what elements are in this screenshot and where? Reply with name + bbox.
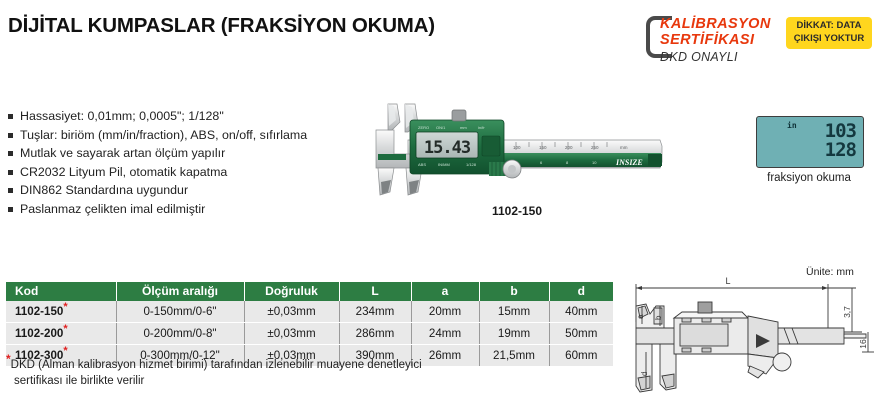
footnote-line1: DKD (Alman kalibrasyon hizmet birimi) ta… (11, 359, 422, 371)
svg-text:ZERO: ZERO (418, 125, 429, 130)
fraction-display-caption: fraksiyon okuma (744, 172, 874, 184)
cell-b: 15mm (479, 301, 549, 323)
feature-text: CR2032 Lityum Pil, otomatik kapatma (20, 164, 227, 182)
cell-kod: 1102-200* (6, 323, 116, 345)
brand-mark: INSIZE (615, 158, 643, 167)
caliper-lcd-value: 15.43 (424, 138, 471, 158)
dim-label-d: d (640, 372, 649, 376)
cell-dogruluk: ±0,03mm (244, 301, 339, 323)
lcd-unit-indicator: in (787, 121, 797, 130)
kod-value: 1102-150 (15, 305, 63, 318)
calibration-badge-line2: SERTİFİKASI (660, 32, 754, 48)
fraction-display-inset: in 103 128 (756, 116, 864, 168)
dim-label-height: 16 (858, 339, 868, 349)
footnote-line2: sertifikası ile birlikte verilir (6, 374, 606, 390)
column-header-olcum-araligi: Ölçüm aralığı (116, 282, 244, 301)
cell-d: 40mm (549, 301, 613, 323)
bullet-square-icon (8, 151, 13, 156)
bullet-square-icon (8, 114, 13, 119)
specifications-table: Kod Ölçüm aralığı Doğruluk L a b d 1102-… (6, 282, 613, 366)
lcd-denominator: 128 (825, 141, 856, 160)
svg-text:mm: mm (620, 145, 628, 150)
bullet-square-icon (8, 207, 13, 212)
cell-kod: 1102-150* (6, 301, 116, 323)
cell-l: 286mm (339, 323, 411, 345)
bullet-square-icon (8, 170, 13, 175)
bullet-square-icon (8, 188, 13, 193)
column-header-b: b (479, 282, 549, 301)
list-item: DIN862 Standardına uygundur (8, 182, 368, 200)
cell-b: 19mm (479, 323, 549, 345)
cell-a: 24mm (411, 323, 479, 345)
cell-a: 20mm (411, 301, 479, 323)
svg-text:100: 100 (513, 145, 521, 150)
table-row: 1102-150* 0-150mm/0-6" ±0,03mm 234mm 20m… (6, 301, 613, 323)
dim-label-b: b (654, 315, 663, 320)
column-header-l: L (339, 282, 411, 301)
list-item: Mutlak ve sayarak artan ölçüm yapılır (8, 145, 368, 163)
list-item: Hassasiyet: 0,01mm; 0,0005"; 1/128" (8, 108, 368, 126)
column-header-d: d (549, 282, 613, 301)
feature-text: Mutlak ve sayarak artan ölçüm yapılır (20, 145, 225, 163)
table-header-row: Kod Ölçüm aralığı Doğruluk L a b d (6, 282, 613, 301)
caliper-product-image: 50100 150200 250mm 24 68 10 INSIZE (348, 96, 664, 196)
svg-text:in/fr: in/fr (478, 125, 485, 130)
column-header-kod: Kod (6, 282, 116, 301)
cell-l: 234mm (339, 301, 411, 323)
feature-text: Hassasiyet: 0,01mm; 0,0005"; 1/128" (20, 108, 224, 126)
cell-olcum-araligi: 0-150mm/0-6" (116, 301, 244, 323)
asterisk-marker: * (63, 323, 67, 335)
page-title: DİJİTAL KUMPASLAR (FRAKSİYON OKUMA) (8, 14, 435, 38)
column-header-a: a (411, 282, 479, 301)
feature-list: Hassasiyet: 0,01mm; 0,0005"; 1/128" Tuşl… (8, 108, 368, 219)
product-photo-caption: 1102-150 (462, 204, 572, 218)
feature-text: Tuşlar: biriöm (mm/in/fraction), ABS, on… (20, 127, 307, 145)
cell-d: 50mm (549, 323, 613, 345)
asterisk-marker: * (63, 301, 67, 313)
calibration-badge-line3: DKD ONAYLI (660, 50, 738, 64)
warning-badge: DİKKAT: DATA ÇIKIŞI YOKTUR (786, 17, 872, 49)
list-item: Paslanmaz çelikten imal edilmiştir (8, 201, 368, 219)
bullet-square-icon (8, 133, 13, 138)
list-item: CR2032 Lityum Pil, otomatik kapatma (8, 164, 368, 182)
feature-text: Paslanmaz çelikten imal edilmiştir (20, 201, 205, 219)
calibration-badge-line1: KALİBRASYON (660, 16, 771, 32)
svg-text:1/128: 1/128 (466, 162, 477, 167)
warning-badge-line1: DİKKAT: DATA (790, 20, 868, 33)
lcd-fraction-value: 103 128 (825, 122, 856, 160)
svg-text:ON/1: ON/1 (436, 125, 446, 130)
list-item: Tuşlar: biriöm (mm/in/fraction), ABS, on… (8, 127, 368, 145)
feature-text: DIN862 Standardına uygundur (20, 182, 188, 200)
dim-label-L: L (725, 276, 730, 286)
table-row: 1102-200* 0-200mm/0-8" ±0,03mm 286mm 24m… (6, 323, 613, 345)
asterisk-marker: * (63, 345, 67, 357)
svg-text:ABS: ABS (418, 162, 426, 167)
svg-text:250: 250 (591, 145, 599, 150)
table-footnote: *DKD (Alman kalibrasyon hizmet birimi) t… (6, 358, 606, 389)
svg-text:IN/MM: IN/MM (438, 162, 450, 167)
calibration-certificate-badge: KALİBRASYON SERTİFİKASI DKD ONAYLI (646, 14, 774, 70)
cell-olcum-araligi: 0-200mm/0-8" (116, 323, 244, 345)
kod-value: 1102-200 (15, 327, 63, 340)
warning-badge-line2: ÇIKIŞI YOKTUR (790, 33, 868, 46)
svg-text:mm: mm (460, 125, 467, 130)
dim-label-thickness: 3,7 (842, 306, 852, 318)
svg-text:150: 150 (539, 145, 547, 150)
cell-dogruluk: ±0,03mm (244, 323, 339, 345)
svg-text:10: 10 (592, 160, 597, 165)
svg-text:200: 200 (565, 145, 573, 150)
dim-label-a: a (636, 314, 645, 319)
technical-drawing: L (616, 262, 882, 402)
column-header-dogruluk: Doğruluk (244, 282, 339, 301)
